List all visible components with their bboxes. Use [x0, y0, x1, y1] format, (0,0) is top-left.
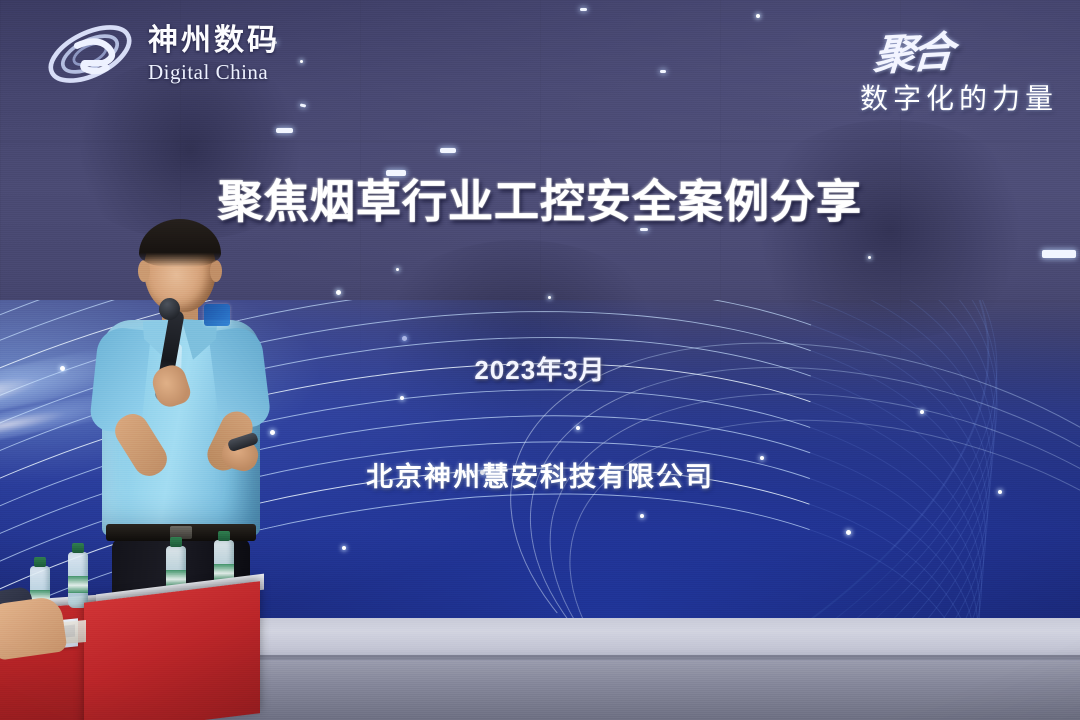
bottle-cap-icon: [170, 537, 182, 547]
brand-name-en: Digital China: [148, 62, 280, 83]
speaker-hair: [139, 219, 221, 267]
speaker-ear-right: [210, 260, 222, 282]
swirl-galaxy-icon: [44, 18, 136, 90]
slide-title: 聚焦烟草行业工控安全案例分享: [0, 178, 1080, 227]
attendee-arm: [0, 595, 68, 660]
conference-photo: 聚焦烟草行业工控安全案例分享 2023年3月 北京神州慧安科技有限公司 神州数码…: [0, 0, 1080, 720]
brand-text: 神州数码 Digital China: [148, 26, 280, 83]
water-bottle: [68, 552, 88, 608]
bottle-cap-icon: [72, 543, 84, 553]
table-cloth: [84, 581, 260, 720]
company-badge-icon: [204, 304, 230, 326]
slogan-headline: 聚合: [872, 18, 953, 83]
brand-logo: 神州数码 Digital China: [44, 18, 280, 90]
bottle-cap-icon: [218, 531, 230, 541]
bottle-label: [68, 576, 88, 593]
bottle-cap-icon: [34, 557, 46, 567]
event-slogan: 聚合 数字化的力量: [860, 20, 1058, 117]
slogan-subline: 数字化的力量: [860, 77, 1058, 117]
brand-name-cn: 神州数码: [148, 26, 280, 56]
speaker-figure: [96, 224, 276, 624]
